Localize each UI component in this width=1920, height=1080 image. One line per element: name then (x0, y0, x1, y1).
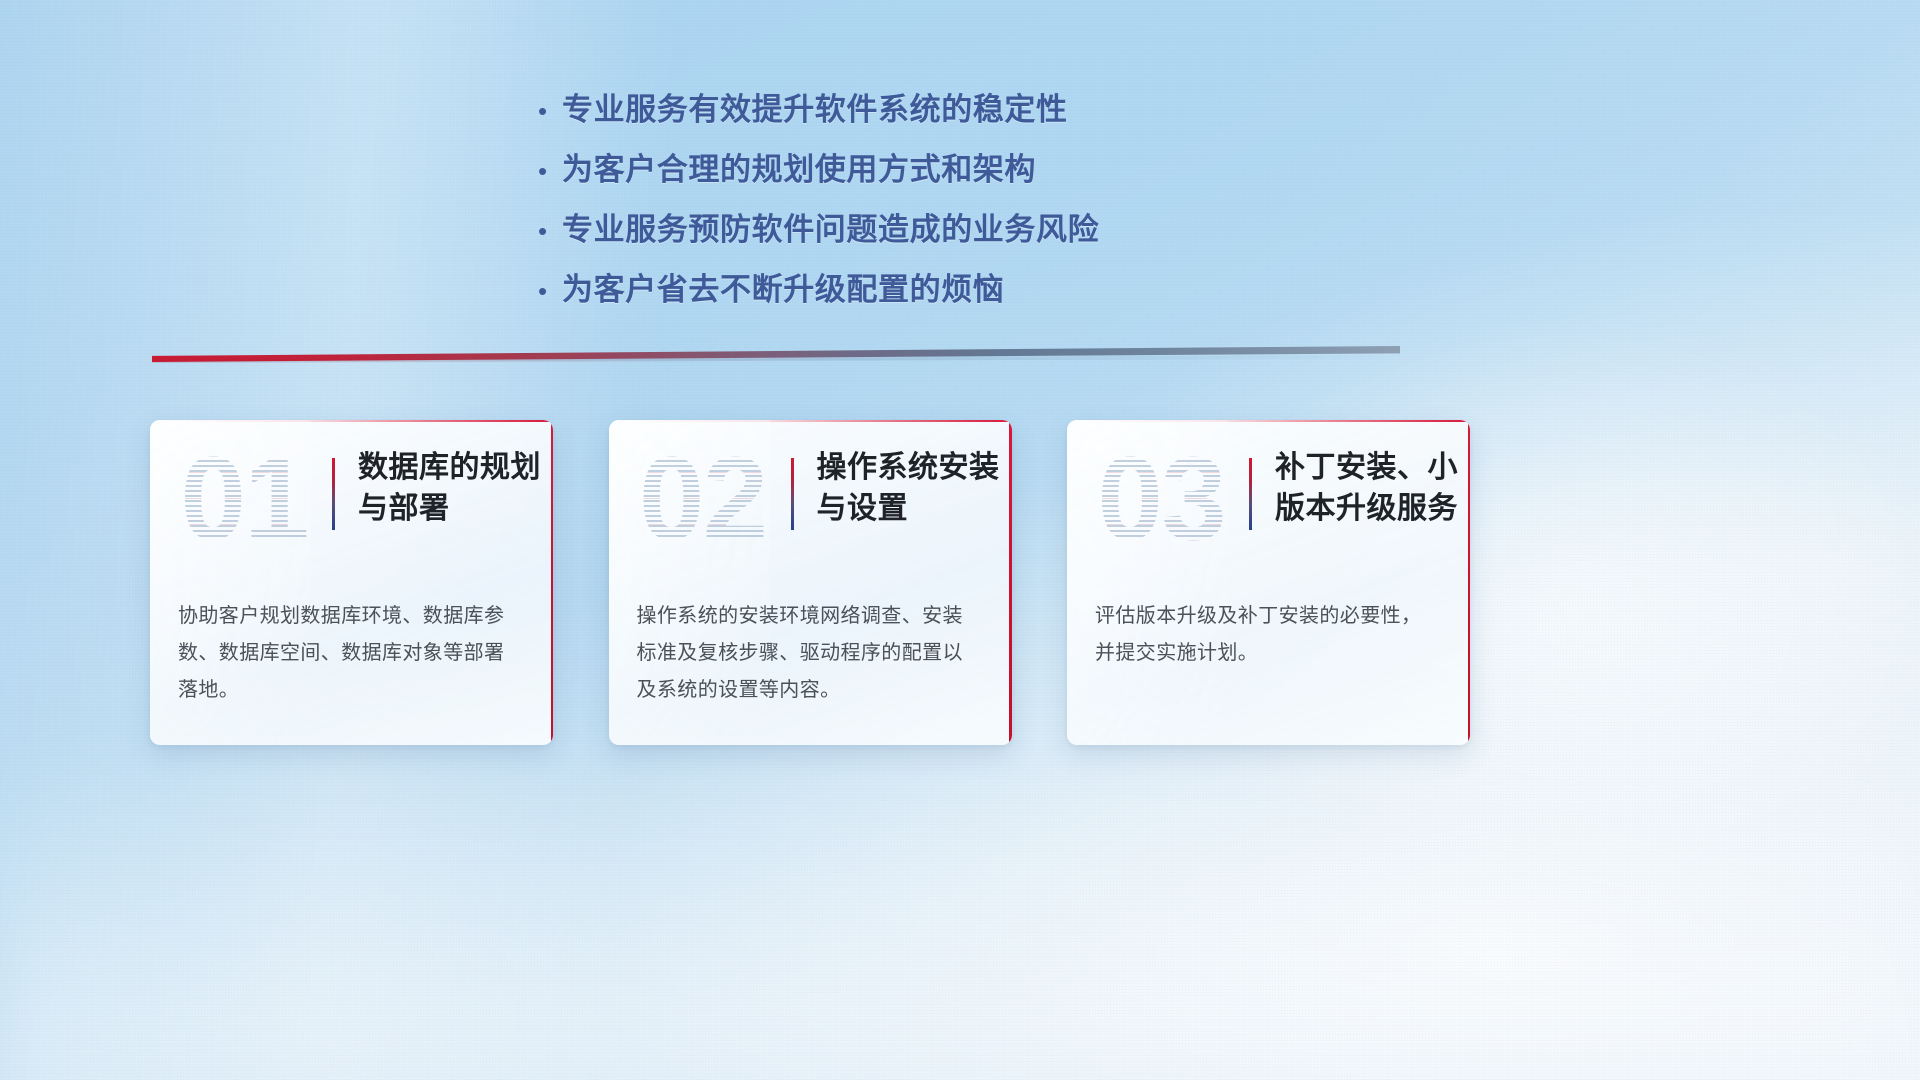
title-accent-bar (791, 458, 794, 530)
title-accent-bar (1249, 458, 1252, 530)
list-item: • 为客户省去不断升级配置的烦恼 (538, 268, 1258, 313)
card-title: 补丁安装、小版本升级服务 (1275, 448, 1465, 530)
bullet-text: 专业服务预防软件问题造成的业务风险 (562, 208, 1099, 253)
bullet-marker-icon: • (538, 214, 562, 244)
bullet-text: 为客户省去不断升级配置的烦恼 (562, 268, 1004, 313)
section-divider (152, 346, 1400, 362)
title-accent-bar (332, 458, 335, 530)
service-card-list: 01 01 数据库的规划与部署 协助客户规划数据库环境、数据库参数、数据库空间、… (150, 420, 1470, 745)
card-header: 01 01 数据库的规划与部署 (150, 420, 553, 580)
service-card[interactable]: 01 01 数据库的规划与部署 协助客户规划数据库环境、数据库参数、数据库空间、… (150, 420, 553, 745)
card-number-ghost-tint: 02 (633, 436, 773, 562)
card-number-ghost-tint: 01 (174, 436, 314, 562)
card-body-text: 协助客户规划数据库环境、数据库参数、数据库空间、数据库对象等部署落地。 (178, 598, 523, 709)
service-card[interactable]: 03 03 补丁安装、小版本升级服务 评估版本升级及补丁安装的必要性，并提交实施… (1067, 420, 1470, 745)
bullet-marker-icon: • (538, 274, 562, 304)
card-title: 数据库的规划与部署 (358, 448, 548, 530)
list-item: • 为客户合理的规划使用方式和架构 (538, 148, 1258, 193)
card-body-text: 操作系统的安装环境网络调查、安装标准及复核步骤、驱动程序的配置以及系统的设置等内… (637, 598, 982, 709)
list-item: • 专业服务有效提升软件系统的稳定性 (538, 88, 1258, 133)
bullet-text: 专业服务有效提升软件系统的稳定性 (562, 88, 1068, 133)
card-title: 操作系统安装与设置 (817, 448, 1007, 530)
card-number-ghost-tint: 03 (1091, 436, 1231, 562)
bullet-marker-icon: • (538, 154, 562, 184)
bullet-marker-icon: • (538, 94, 562, 124)
service-card[interactable]: 02 02 操作系统安装与设置 操作系统的安装环境网络调查、安装标准及复核步骤、… (609, 420, 1012, 745)
list-item: • 专业服务预防软件问题造成的业务风险 (538, 208, 1258, 253)
bullet-text: 为客户合理的规划使用方式和架构 (562, 148, 1036, 193)
card-header: 03 03 补丁安装、小版本升级服务 (1067, 420, 1470, 580)
card-body-text: 评估版本升级及补丁安装的必要性，并提交实施计划。 (1095, 598, 1440, 672)
benefits-bullet-list: • 专业服务有效提升软件系统的稳定性 • 为客户合理的规划使用方式和架构 • 专… (538, 88, 1258, 328)
card-header: 02 02 操作系统安装与设置 (609, 420, 1012, 580)
